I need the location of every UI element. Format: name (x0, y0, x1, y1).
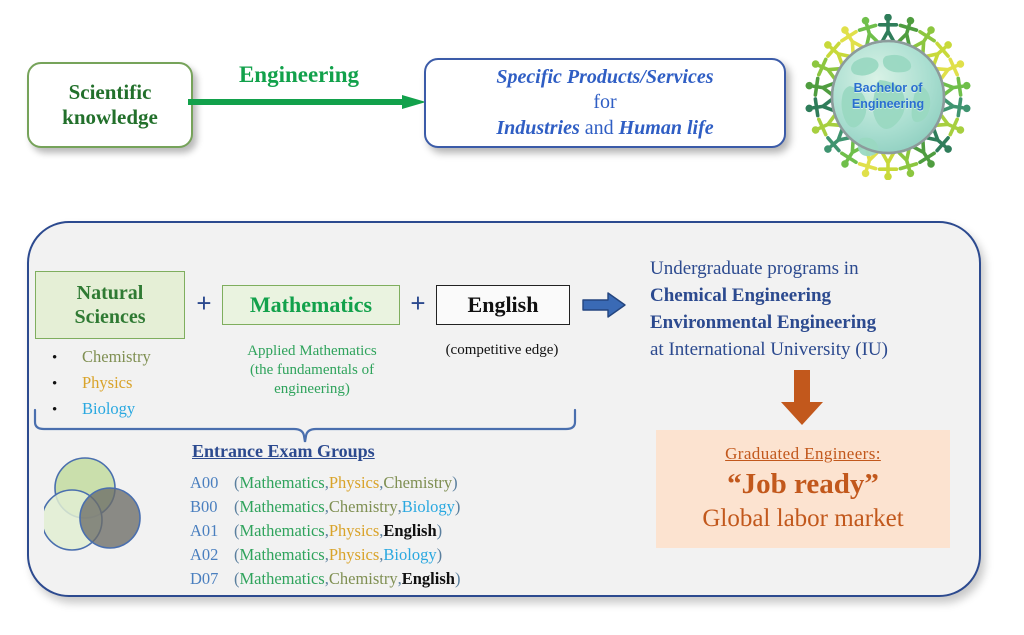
entrance-exam-groups-list: A00(Mathematics, Physics, Chemistry)B00(… (190, 471, 520, 591)
bullet-icon: • (52, 373, 82, 396)
english-label: English (468, 292, 539, 318)
exam-group-subject: English (383, 519, 436, 543)
person-icon (804, 77, 833, 97)
paren-close: ) (455, 495, 461, 519)
exam-group-code: A01 (190, 519, 234, 543)
exam-group-subject: Mathematics (240, 471, 325, 495)
engineering-label: Engineering (226, 62, 372, 88)
plus-sign-1: + (190, 288, 218, 319)
person-icon (856, 15, 880, 46)
english-box: English (436, 285, 570, 325)
specific-products-services-box: Specific Products/Services for Industrie… (424, 58, 786, 148)
products-industries: Industries (496, 117, 579, 139)
exam-group-subject: Chemistry (329, 495, 398, 519)
subject-label: Chemistry (82, 344, 151, 369)
exam-group-row: A02(Mathematics, Physics, Biology) (190, 543, 520, 567)
products-and: and (580, 117, 619, 139)
exam-group-row: D07(Mathematics, Chemistry, English) (190, 567, 520, 591)
products-line-3: Industries and Human life (496, 116, 713, 142)
mathematics-label: Mathematics (250, 292, 372, 318)
exam-group-subject: Biology (402, 495, 455, 519)
list-item: • Physics (52, 370, 212, 396)
exam-group-row: A00(Mathematics, Physics, Chemistry) (190, 471, 520, 495)
natural-sciences-box: NaturalSciences (35, 271, 185, 339)
paren-close: ) (452, 471, 458, 495)
exam-group-subject: Mathematics (240, 519, 325, 543)
graduated-engineers-box: Graduated Engineers: “Job ready” Global … (656, 430, 950, 548)
program-chemical-engineering: Chemical Engineering (650, 283, 960, 310)
exam-group-code: A02 (190, 543, 234, 567)
job-ready-label: “Job ready” (727, 468, 879, 501)
products-line-2: for (593, 90, 616, 116)
exam-group-code: A00 (190, 471, 234, 495)
exam-group-subject: Physics (329, 543, 379, 567)
programs-intro: Undergraduate programs in (650, 256, 960, 283)
exam-group-code: D07 (190, 567, 234, 591)
mathematics-box: Mathematics (222, 285, 400, 325)
paren-close: ) (437, 519, 443, 543)
exam-group-subject: Biology (383, 543, 436, 567)
blue-arrow-icon (582, 292, 626, 318)
exam-group-subject: Mathematics (240, 495, 325, 519)
exam-group-subject: Chemistry (383, 471, 452, 495)
orange-down-arrow-icon (780, 370, 824, 426)
person-icon (943, 77, 972, 97)
entrance-exam-groups-title: Entrance Exam Groups (192, 441, 452, 462)
exam-group-subject: Physics (329, 471, 379, 495)
global-labor-market-label: Global labor market (702, 504, 903, 534)
person-icon (943, 97, 972, 117)
scientific-knowledge-box: Scientificknowledge (27, 62, 193, 148)
undergraduate-programs-text: Undergraduate programs in Chemical Engin… (650, 256, 960, 364)
bullet-icon: • (52, 347, 82, 370)
graduated-engineers-label: Graduated Engineers: (725, 444, 881, 464)
products-line-1: Specific Products/Services (496, 65, 713, 91)
person-icon (804, 97, 833, 117)
green-arrow-icon (188, 95, 426, 109)
person-icon (896, 149, 920, 180)
natural-sciences-label: NaturalSciences (74, 281, 145, 329)
bachelor-of-engineering-logo: Bachelor ofEngineering (802, 14, 974, 180)
programs-university: at International University (IU) (650, 337, 960, 364)
person-icon (880, 14, 897, 41)
exam-group-subject: English (402, 567, 455, 591)
products-human-life: Human life (619, 117, 714, 139)
exam-group-row: A01(Mathematics, Physics, English) (190, 519, 520, 543)
exam-group-subject: Mathematics (240, 567, 325, 591)
globe-people-icon (802, 14, 974, 180)
english-note: (competitive edge) (432, 342, 572, 359)
venn-diagram-icon (44, 455, 148, 555)
exam-group-code: B00 (190, 495, 234, 519)
subject-label: Physics (82, 370, 132, 395)
scientific-knowledge-label: Scientificknowledge (62, 80, 158, 130)
list-item: • Chemistry (52, 344, 212, 370)
program-environmental-engineering: Environmental Engineering (650, 310, 960, 337)
curly-brace-icon (32, 408, 577, 444)
paren-close: ) (455, 567, 461, 591)
exam-group-subject: Mathematics (240, 543, 325, 567)
paren-close: ) (437, 543, 443, 567)
exam-group-subject: Physics (329, 519, 379, 543)
person-icon (880, 153, 897, 180)
mathematics-note: Applied Mathematics(the fundamentals ofe… (222, 342, 402, 400)
exam-group-subject: Chemistry (329, 567, 398, 591)
person-icon (896, 15, 920, 46)
exam-group-row: B00(Mathematics, Chemistry, Biology) (190, 495, 520, 519)
diagram-canvas: Scientificknowledge Engineering Specific… (0, 0, 1024, 635)
plus-sign-2: + (404, 288, 432, 319)
